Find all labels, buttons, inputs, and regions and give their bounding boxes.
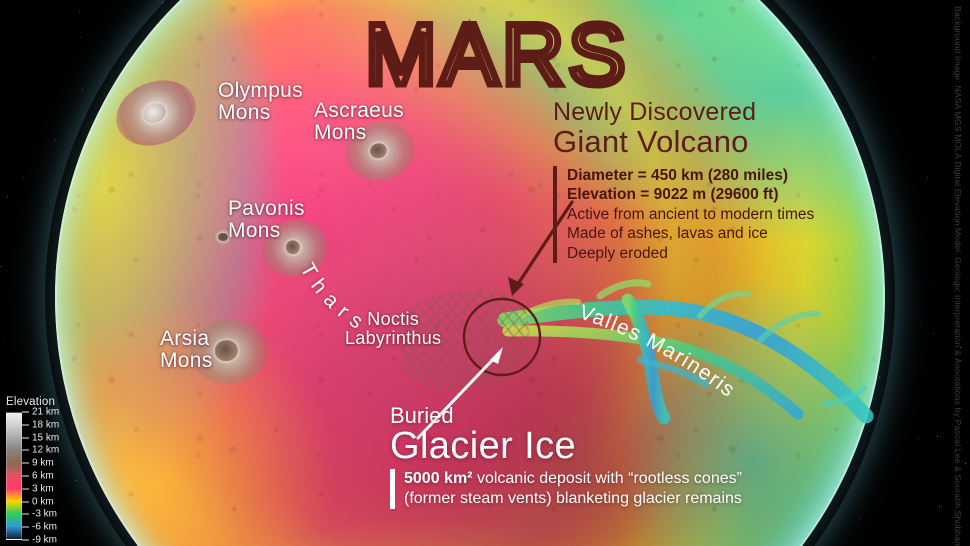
- page-title: MARS: [365, 6, 629, 105]
- label-pavonis-mons: Pavonis Mons: [228, 198, 305, 243]
- volcano-fact: Active from ancient to modern times: [567, 205, 853, 225]
- legend-tick-label: -9 km: [32, 535, 57, 546]
- glacier-area-value: 5000 km²: [404, 470, 473, 487]
- legend-tick: 0 km: [22, 496, 54, 507]
- legend-tick: -6 km: [22, 522, 57, 533]
- label-olympus-mons: Olympus Mons: [218, 80, 303, 125]
- legend-tick: -9 km: [22, 535, 57, 546]
- legend-tick-label: 18 km: [32, 419, 59, 430]
- legend-tick-mark: [22, 412, 29, 413]
- star: [23, 177, 24, 178]
- volcano-heading-line2: Giant Volcano: [553, 125, 853, 160]
- star: [927, 177, 928, 178]
- legend-tick-label: 15 km: [32, 432, 59, 443]
- label-arsia-mons: Arsia Mons: [160, 328, 213, 373]
- legend-tick: 12 km: [22, 445, 59, 456]
- elevation-legend: Elevation 21 km18 km15 km12 km9 km6 km3 …: [6, 396, 114, 540]
- star: [50, 201, 51, 202]
- legend-tick-label: 21 km: [32, 407, 59, 418]
- volcano-fact: Deeply eroded: [567, 244, 853, 264]
- credit-container: Background Image: NASA MGS MOLA Digital …: [950, 6, 966, 406]
- star: [937, 436, 938, 437]
- star: [4, 338, 5, 339]
- label-noctis-labyrinthus: Noctis Labyrinthus: [345, 310, 441, 348]
- legend-color-bar: [6, 412, 22, 540]
- legend-tick: 3 km: [22, 483, 54, 494]
- volcano-heading-line1: Newly Discovered: [553, 98, 853, 126]
- legend-tick-label: 6 km: [32, 471, 54, 482]
- legend-tick-label: 12 km: [32, 445, 59, 456]
- legend-tick-label: 0 km: [32, 496, 54, 507]
- legend-tick-list: 21 km18 km15 km12 km9 km6 km3 km0 km-3 k…: [22, 412, 108, 540]
- legend-tick-mark: [22, 437, 29, 438]
- legend-tick-mark: [22, 424, 29, 425]
- legend-tick-mark: [22, 540, 29, 541]
- caldera: [218, 233, 228, 241]
- legend-tick-label: 3 km: [32, 483, 54, 494]
- legend-tick-label: 9 km: [32, 458, 54, 469]
- glacier-detail-line1: 5000 km² volcanic deposit with “rootless…: [404, 469, 860, 489]
- star: [920, 325, 921, 326]
- legend-tick-mark: [22, 476, 29, 477]
- legend-tick-mark: [22, 514, 29, 515]
- star: [28, 293, 29, 294]
- legend-tick-mark: [22, 450, 29, 451]
- volcano-fact: Diameter = 450 km (280 miles): [567, 166, 853, 186]
- star: [939, 506, 940, 507]
- label-ascraeus-mons: Ascraeus Mons: [314, 100, 404, 145]
- credit-text: Background Image: NASA MGS MOLA Digital …: [953, 6, 963, 546]
- volcano-fact: Elevation = 9022 m (29600 ft): [567, 185, 853, 205]
- star: [0, 266, 1, 267]
- star: [931, 281, 932, 282]
- legend-tick: -3 km: [22, 509, 57, 520]
- mars-infographic: MARS Olympus Mons Ascraeus Mons Pavonis …: [0, 0, 970, 546]
- glacier-heading-line2: Glacier Ice: [390, 426, 860, 467]
- glacier-detail-rest: volcanic deposit with “rootless cones”: [473, 470, 742, 487]
- volcano-annotation: Newly Discovered Giant Volcano Diameter …: [553, 98, 853, 263]
- glacier-annotation: Buried Glacier Ice 5000 km² volcanic dep…: [390, 404, 860, 509]
- legend-body: 21 km18 km15 km12 km9 km6 km3 km0 km-3 k…: [6, 412, 114, 540]
- legend-tick-mark: [22, 527, 29, 528]
- legend-tick: 18 km: [22, 419, 59, 430]
- glacier-detail: 5000 km² volcanic deposit with “rootless…: [390, 469, 860, 509]
- volcano-facts-list: Diameter = 450 km (280 miles) Elevation …: [553, 166, 853, 264]
- volcano-fact: Made of ashes, lavas and ice: [567, 224, 853, 244]
- legend-tick-mark: [22, 501, 29, 502]
- legend-tick-label: -6 km: [32, 522, 57, 533]
- star: [4, 534, 5, 535]
- legend-tick: 15 km: [22, 432, 59, 443]
- star: [965, 463, 966, 464]
- legend-tick: 21 km: [22, 407, 59, 418]
- glacier-detail-line2: (former steam vents) blanketing glacier …: [404, 489, 860, 509]
- legend-tick-mark: [22, 463, 29, 464]
- star: [933, 333, 934, 334]
- legend-tick-label: -3 km: [32, 509, 57, 520]
- legend-tick: 6 km: [22, 471, 54, 482]
- star: [7, 196, 8, 197]
- star: [918, 438, 919, 439]
- legend-tick: 9 km: [22, 458, 54, 469]
- legend-tick-mark: [22, 488, 29, 489]
